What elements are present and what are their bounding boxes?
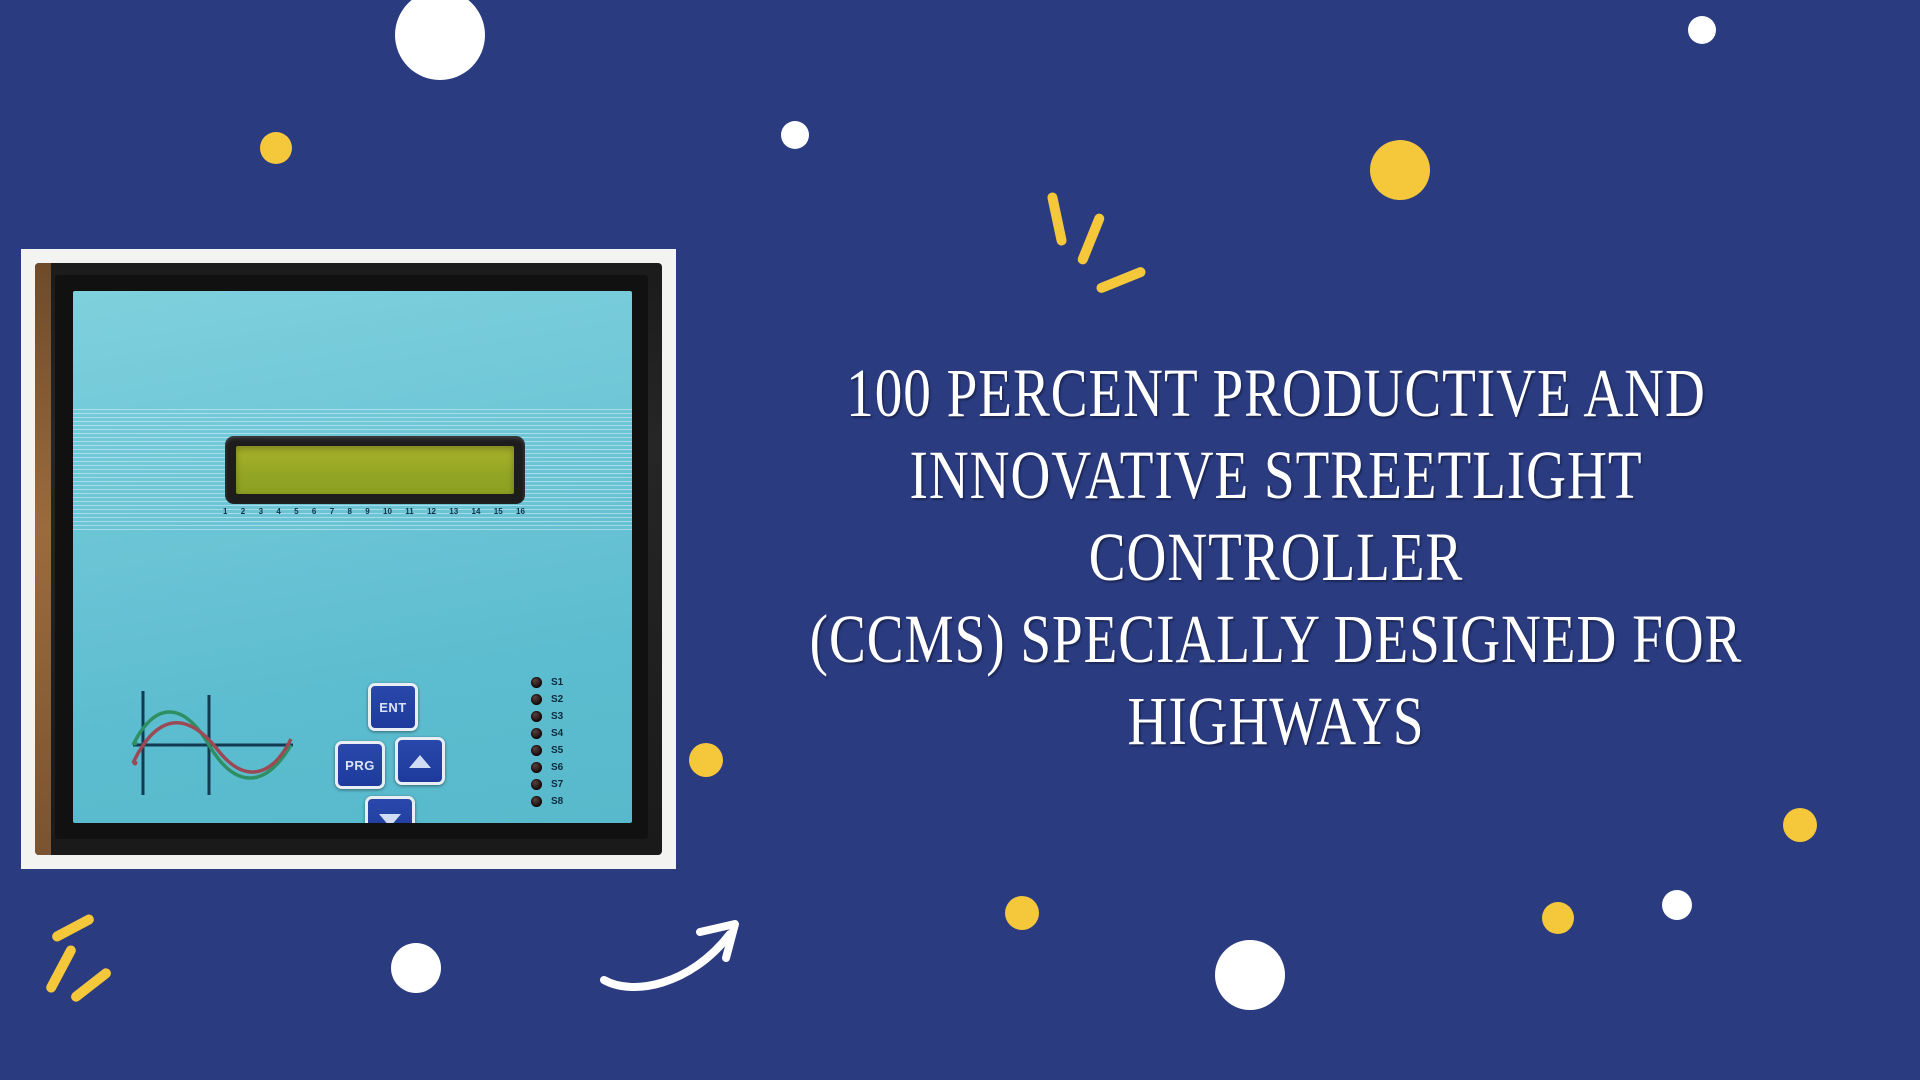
key-ent-label: ENT	[379, 700, 407, 715]
scale-tick: 11	[405, 507, 413, 516]
decor-dot	[781, 121, 809, 149]
led-row: S8	[531, 793, 601, 810]
led-row: S3	[531, 708, 601, 725]
status-led-icon	[531, 694, 542, 705]
led-label: S2	[551, 694, 563, 705]
led-label: S7	[551, 779, 563, 790]
scale-tick: 10	[383, 507, 392, 516]
key-prg-label: PRG	[345, 758, 375, 773]
status-led-icon	[531, 796, 542, 807]
promotional-banner: 12345678910111213141516 ENT	[0, 0, 1920, 1080]
key-up[interactable]	[395, 737, 445, 785]
status-led-icon	[531, 762, 542, 773]
page-title: 100 PERCENT PRODUCTIVE AND INNOVATIVE ST…	[783, 352, 1769, 763]
decor-dot	[1662, 890, 1692, 920]
key-prg[interactable]: PRG	[335, 741, 385, 789]
scale-tick: 15	[494, 507, 503, 516]
decor-dot	[1542, 902, 1574, 934]
led-row: S2	[531, 691, 601, 708]
led-row: S1	[531, 674, 601, 691]
led-label: S8	[551, 796, 563, 807]
controller-device: 12345678910111213141516 ENT	[35, 263, 662, 855]
lcd-screen	[236, 446, 514, 494]
status-led-icon	[531, 779, 542, 790]
chevron-down-icon	[379, 814, 401, 824]
channel-scale: 12345678910111213141516	[223, 507, 525, 516]
curved-arrow-icon	[598, 900, 768, 995]
status-led-icon	[531, 745, 542, 756]
device-bezel: 12345678910111213141516 ENT	[55, 275, 648, 839]
key-ent[interactable]: ENT	[368, 683, 418, 731]
decor-dot	[1005, 896, 1039, 930]
led-row: S7	[531, 776, 601, 793]
scale-tick: 16	[516, 507, 525, 516]
scale-tick: 3	[259, 507, 263, 516]
scale-tick: 12	[427, 507, 436, 516]
decor-dot	[395, 0, 485, 80]
led-row: S4	[531, 725, 601, 742]
scale-tick: 4	[276, 507, 280, 516]
scale-tick: 9	[365, 507, 369, 516]
led-label: S4	[551, 728, 563, 739]
led-label: S1	[551, 677, 563, 688]
scale-tick: 6	[312, 507, 316, 516]
decor-dot	[1370, 140, 1430, 200]
led-row: S5	[531, 742, 601, 759]
decor-dot	[260, 132, 292, 164]
scale-tick: 1	[223, 507, 227, 516]
status-led-icon	[531, 728, 542, 739]
scale-tick: 8	[347, 507, 351, 516]
chevron-up-icon	[409, 755, 431, 768]
key-down[interactable]	[365, 796, 415, 823]
led-label: S3	[551, 711, 563, 722]
waveform-graphic	[125, 683, 295, 803]
scale-tick: 7	[330, 507, 334, 516]
decor-dot	[391, 943, 441, 993]
status-led-icon	[531, 711, 542, 722]
wood-background	[35, 263, 51, 855]
decor-dot	[1215, 940, 1285, 1010]
scale-tick: 14	[472, 507, 481, 516]
product-photo: 12345678910111213141516 ENT	[21, 249, 676, 869]
led-row: S6	[531, 759, 601, 776]
led-label: S5	[551, 745, 563, 756]
decor-dot	[1783, 808, 1817, 842]
scale-tick: 2	[241, 507, 245, 516]
status-led-icon	[531, 677, 542, 688]
lcd-housing	[225, 436, 525, 504]
status-led-column: S1S2S3S4S5S6S7S8	[531, 674, 601, 810]
scale-tick: 13	[449, 507, 458, 516]
scale-tick: 5	[294, 507, 298, 516]
led-label: S6	[551, 762, 563, 773]
device-front-panel: 12345678910111213141516 ENT	[73, 291, 632, 823]
decor-dot	[1688, 16, 1716, 44]
decor-dot	[689, 743, 723, 777]
